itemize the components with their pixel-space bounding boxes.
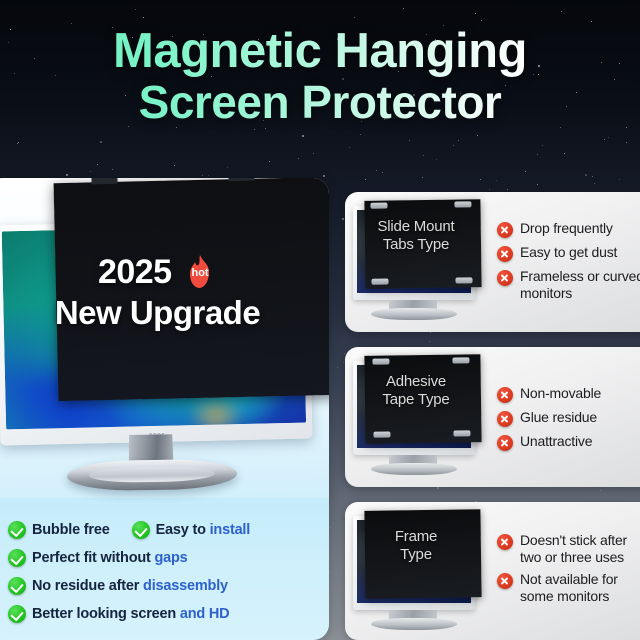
x-icon: [497, 435, 513, 451]
con-item: Frameless or curved monitors: [497, 268, 640, 301]
slide-tab-icon: [454, 201, 471, 207]
comparison-cons-list: Non-movableGlue residueUnattractive: [497, 385, 640, 457]
con-item: Drop frequently: [497, 220, 640, 238]
con-item: Non-movable: [497, 385, 640, 403]
benefit-label: Easy to install: [156, 522, 251, 538]
comparison-label: AdhesiveTape Type: [361, 373, 471, 410]
benefit-row: Perfect fit without gaps: [8, 544, 320, 572]
comparison-label-line: Frame: [361, 528, 471, 546]
comparison-card-frame: FrameType Doesn't stick after two or thr…: [345, 502, 640, 640]
benefit-label: No residue after disassembly: [32, 578, 228, 594]
con-label: Not available for some monitors: [520, 571, 640, 604]
benefit-row: Better looking screen and HD: [8, 600, 320, 628]
check-icon: [132, 521, 150, 539]
benefit-item: Easy to install: [132, 521, 251, 539]
magnetic-tab-left: [91, 178, 118, 184]
x-icon: [497, 573, 513, 589]
con-item: Doesn't stick after two or three uses: [497, 532, 640, 565]
comparison-card-slide-mount: Slide MountTabs Type Drop frequentlyEasy…: [345, 192, 640, 332]
check-icon: [8, 549, 26, 567]
comparison-base: [371, 308, 457, 320]
monitor-base: [67, 459, 237, 492]
hero-monitor: acer: [0, 202, 315, 492]
x-icon: [497, 411, 513, 427]
benefit-label: Better looking screen and HD: [32, 606, 229, 622]
benefit-item: Bubble free: [8, 521, 110, 539]
comparison-label: FrameType: [361, 528, 471, 565]
comparison-label-line: Slide Mount: [361, 218, 471, 236]
adhesive-tape-icon: [373, 431, 390, 437]
slide-tab-icon: [370, 202, 387, 208]
comparison-label-line: Adhesive: [361, 373, 471, 391]
con-label: Drop frequently: [520, 220, 613, 237]
title-line-2: Screen Protector: [0, 78, 640, 127]
comparison-label-line: Type: [361, 546, 471, 564]
benefits-list: Bubble freeEasy to installPerfect fit wi…: [8, 516, 320, 628]
comparison-label-line: Tape Type: [361, 391, 471, 409]
con-label: Doesn't stick after two or three uses: [520, 532, 640, 565]
comparison-card-adhesive-tape: AdhesiveTape Type Non-movableGlue residu…: [345, 347, 640, 487]
check-icon: [8, 577, 26, 595]
adhesive-tape-icon: [452, 357, 469, 363]
benefit-item: No residue after disassembly: [8, 577, 228, 595]
con-item: Not available for some monitors: [497, 571, 640, 604]
x-icon: [497, 246, 513, 262]
benefit-row: No residue after disassembly: [8, 572, 320, 600]
slide-tab-icon: [455, 277, 472, 283]
hero-headline: 2025 hot New Upgrade: [0, 252, 329, 333]
hero-year: 2025: [98, 252, 172, 292]
x-icon: [497, 270, 513, 286]
x-icon: [497, 534, 513, 550]
comparison-base: [371, 463, 457, 475]
magnetic-tab-right: [228, 178, 255, 181]
hero-subtitle: New Upgrade: [0, 294, 329, 333]
check-icon: [8, 605, 26, 623]
adhesive-tape-icon: [372, 358, 389, 364]
comparison-base: [371, 618, 457, 630]
page-title: Magnetic Hanging Screen Protector: [0, 26, 640, 127]
hot-badge-label: hot: [183, 267, 217, 280]
con-label: Unattractive: [520, 433, 592, 450]
title-line-1: Magnetic Hanging: [0, 26, 640, 78]
hot-flame-icon: hot: [183, 254, 217, 290]
con-item: Easy to get dust: [497, 244, 640, 262]
benefit-label: Perfect fit without gaps: [32, 550, 188, 566]
check-icon: [8, 521, 26, 539]
benefit-item: Perfect fit without gaps: [8, 549, 188, 567]
benefit-label: Bubble free: [32, 522, 110, 538]
comparison-label-line: Tabs Type: [361, 236, 471, 254]
con-label: Glue residue: [520, 409, 597, 426]
con-label: Easy to get dust: [520, 244, 617, 261]
comparison-label: Slide MountTabs Type: [361, 218, 471, 255]
con-item: Glue residue: [497, 409, 640, 427]
x-icon: [497, 387, 513, 403]
x-icon: [497, 222, 513, 238]
benefit-row: Bubble freeEasy to install: [8, 516, 320, 544]
product-infographic: Magnetic Hanging Screen Protector acer: [0, 0, 640, 640]
con-label: Non-movable: [520, 385, 601, 402]
slide-tab-icon: [371, 278, 388, 284]
adhesive-tape-icon: [453, 430, 470, 436]
comparison-cons-list: Drop frequentlyEasy to get dustFrameless…: [497, 220, 640, 307]
comparison-cons-list: Doesn't stick after two or three usesNot…: [497, 532, 640, 610]
con-label: Frameless or curved monitors: [520, 268, 640, 301]
hero-product-card: acer 2025 hot New Upgrade Bubble f: [0, 178, 329, 640]
con-item: Unattractive: [497, 433, 640, 451]
benefit-item: Better looking screen and HD: [8, 605, 229, 623]
